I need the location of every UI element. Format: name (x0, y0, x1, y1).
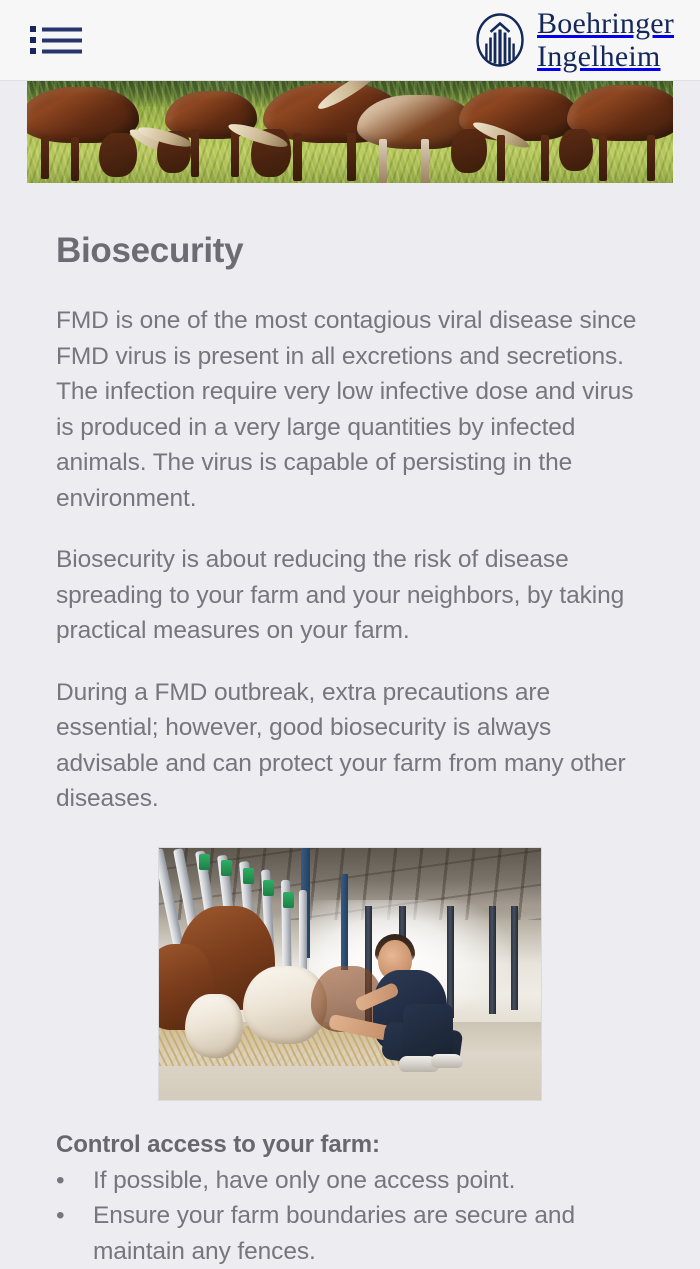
menu-bullet-3 (30, 48, 36, 54)
list-item-text: If possible, have only one access point. (93, 1163, 644, 1199)
cow-leg (599, 135, 607, 181)
list-item: • Ensure your farm boundaries are secure… (56, 1198, 644, 1269)
paragraph-2: Biosecurity is about reducing the risk o… (56, 542, 644, 649)
paragraph-3: During a FMD outbreak, extra precautions… (56, 675, 644, 817)
menu-row-2 (30, 37, 82, 43)
barn-post (489, 906, 496, 1014)
main-content: Biosecurity FMD is one of the most conta… (0, 231, 700, 1269)
rail-end-cap (243, 868, 254, 884)
barn-cow-face (185, 994, 243, 1058)
control-access-list: • If possible, have only one access poin… (56, 1163, 644, 1269)
barn-post (447, 906, 454, 1018)
page-title: Biosecurity (56, 231, 644, 271)
cow-leg (231, 131, 239, 177)
cow-leg (347, 133, 356, 181)
cow-leg (541, 135, 549, 181)
veterinarian-shoe (431, 1054, 463, 1068)
list-item: • If possible, have only one access poin… (56, 1163, 644, 1199)
menu-row-1 (30, 26, 82, 32)
rail-end-cap (199, 854, 210, 870)
menu-row-3 (30, 48, 82, 54)
cow-leg (497, 135, 505, 181)
cow-leg (647, 135, 655, 181)
site-header: Boehringer Ingelheim (0, 0, 700, 81)
cow-leg (71, 137, 79, 181)
menu-bar-3 (42, 49, 82, 54)
cow-leg (379, 139, 387, 183)
barn-beam (341, 874, 348, 970)
list-heading: Control access to your farm: (56, 1131, 644, 1159)
menu-bar-2 (42, 38, 82, 43)
veterinarian-with-cattle-in-barn-photo (158, 847, 542, 1101)
menu-bullet-1 (30, 26, 36, 32)
cow-head (559, 129, 593, 171)
brand-logo-link[interactable]: Boehringer Ingelheim (475, 9, 674, 72)
boehringer-ingelheim-logo-icon (475, 13, 525, 67)
rail-end-cap (221, 860, 232, 876)
cow-leg (191, 129, 199, 177)
list-menu-icon[interactable] (30, 20, 82, 60)
bullet-icon: • (56, 1163, 93, 1199)
menu-bullet-2 (30, 37, 36, 43)
bullet-icon: • (56, 1198, 93, 1269)
menu-bar-1 (42, 27, 82, 32)
barn-post (511, 906, 518, 1010)
rail-end-cap (283, 892, 294, 908)
cow-leg (421, 139, 429, 183)
cow-head (99, 133, 137, 177)
brand-wordmark-line1: Boehringer (537, 9, 674, 39)
rail-end-cap (263, 880, 274, 896)
cow-head (451, 129, 487, 173)
cow-leg (41, 135, 49, 179)
hero-banner-image (27, 81, 673, 183)
list-item-text: Ensure your farm boundaries are secure a… (93, 1198, 644, 1269)
paragraph-1: FMD is one of the most contagious viral … (56, 303, 644, 516)
cow-leg (293, 133, 302, 181)
brand-wordmark-line2: Ingelheim (537, 42, 674, 72)
brand-wordmark: Boehringer Ingelheim (537, 9, 674, 72)
